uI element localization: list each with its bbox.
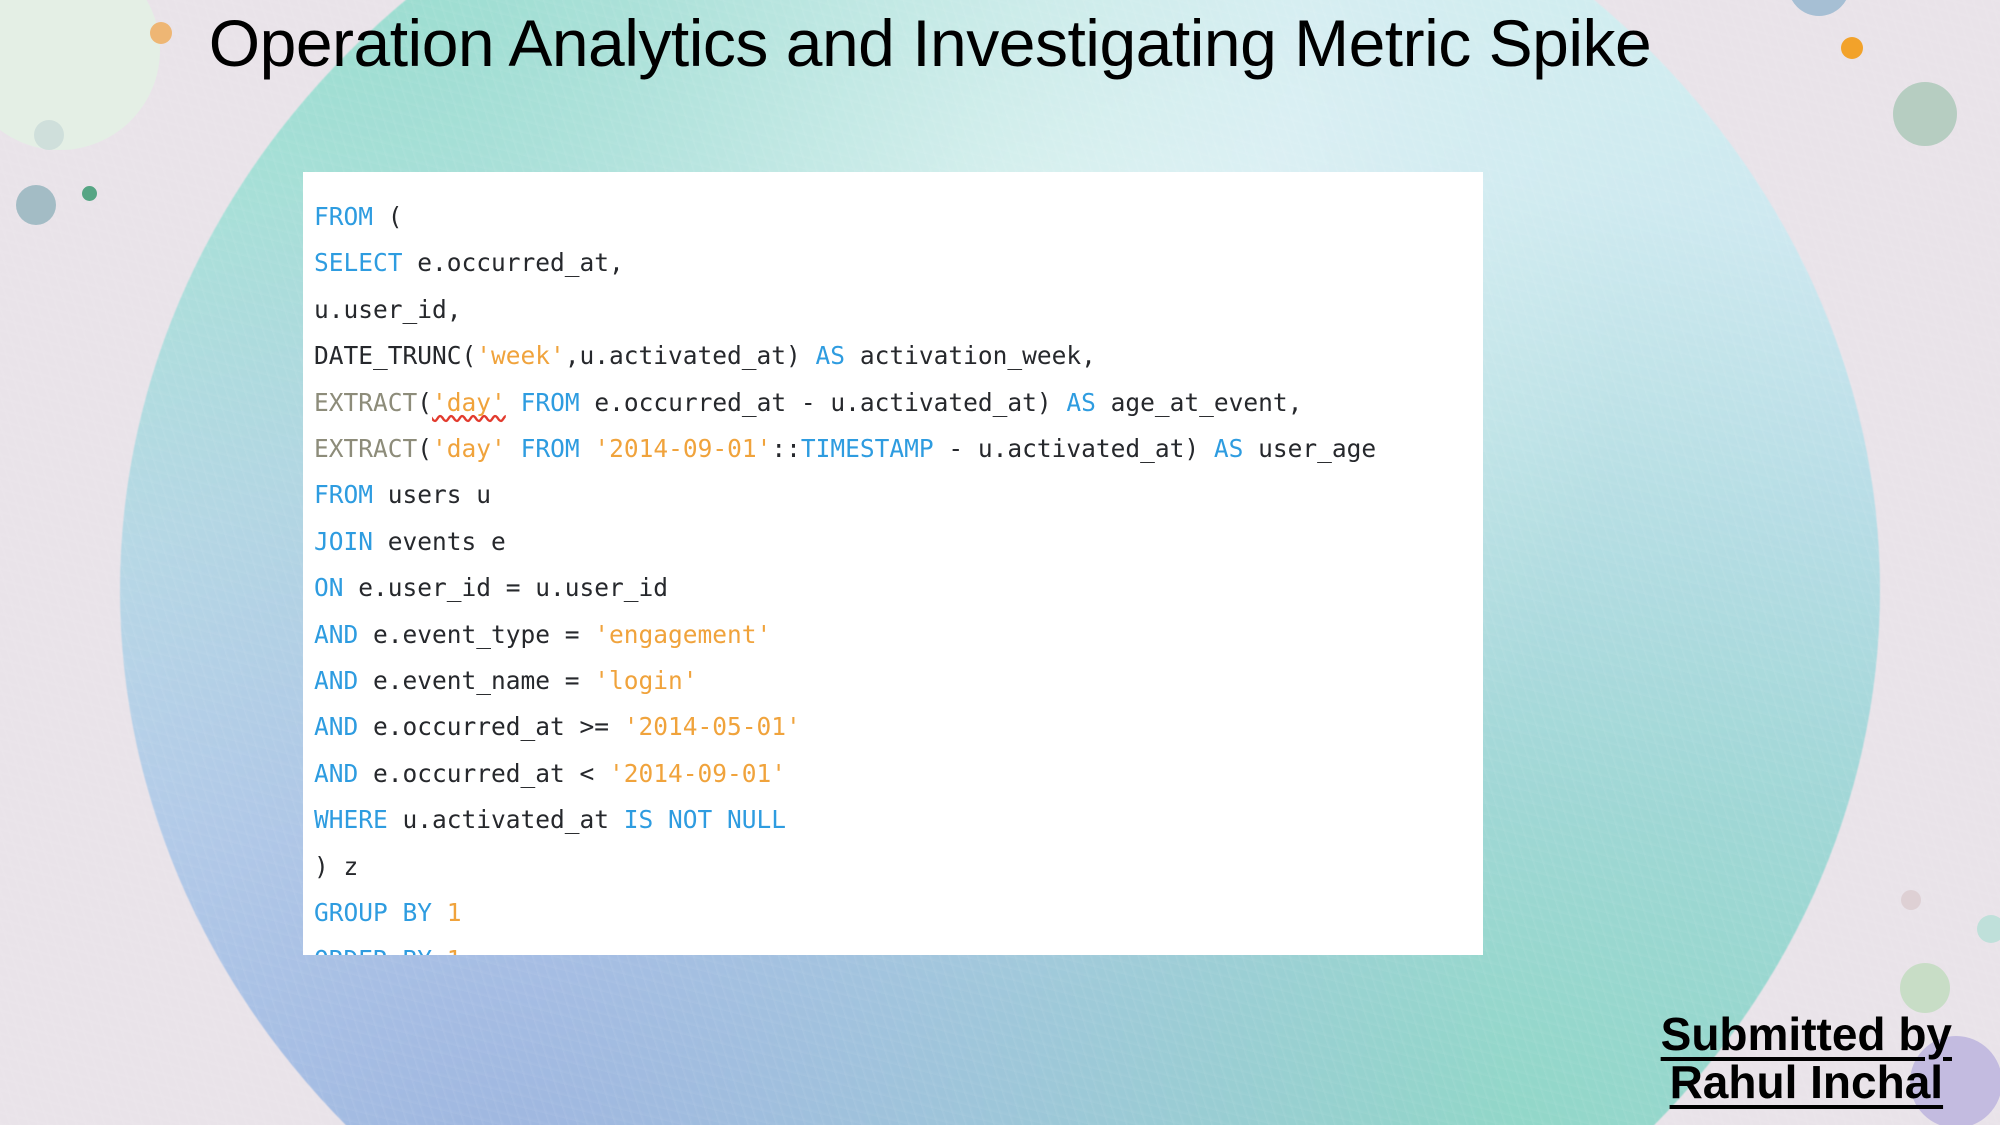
code-token: 'engagement' bbox=[594, 620, 771, 649]
code-token: ON bbox=[314, 573, 344, 602]
code-line: ORDER BY 1 bbox=[308, 937, 1483, 956]
code-token: AND bbox=[314, 759, 358, 788]
code-token bbox=[432, 945, 447, 956]
code-token: :: bbox=[771, 434, 801, 463]
code-line: AND e.event_name = 'login' bbox=[308, 658, 1483, 704]
code-token: ( bbox=[373, 202, 403, 231]
code-token: e.occurred_at - u.activated_at) bbox=[580, 388, 1067, 417]
footer-line-author-name: Rahul Inchal bbox=[1661, 1058, 1952, 1107]
code-token: e.user_id = u.user_id bbox=[344, 573, 669, 602]
code-line: ) z bbox=[308, 844, 1483, 890]
code-line: u.user_id, bbox=[308, 287, 1483, 333]
code-line: AND e.occurred_at < '2014-09-01' bbox=[308, 751, 1483, 797]
code-line: EXTRACT('day' FROM e.occurred_at - u.act… bbox=[308, 380, 1483, 426]
code-token: e.event_type = bbox=[358, 620, 594, 649]
code-token: GROUP BY bbox=[314, 898, 432, 927]
code-token: e.event_name = bbox=[358, 666, 594, 695]
code-token: u.user_id, bbox=[314, 295, 462, 324]
code-token: activation_week, bbox=[845, 341, 1096, 370]
code-token: e.occurred_at, bbox=[403, 248, 624, 277]
pink-dot-bottom-right bbox=[1901, 890, 1921, 910]
code-token: AS bbox=[1066, 388, 1096, 417]
code-line: GROUP BY 1 bbox=[308, 890, 1483, 936]
code-token: e.occurred_at < bbox=[358, 759, 609, 788]
footer-line-submitted-by: Submitted by bbox=[1661, 1010, 1952, 1059]
code-token: users u bbox=[373, 480, 491, 509]
code-token: FROM bbox=[521, 388, 580, 417]
green-dot-left bbox=[82, 186, 97, 201]
code-token: ) z bbox=[314, 852, 358, 881]
code-token: AS bbox=[1214, 434, 1244, 463]
code-line: DATE_TRUNC('week',u.activated_at) AS act… bbox=[308, 333, 1483, 379]
code-token: AND bbox=[314, 620, 358, 649]
code-token: ORDER BY bbox=[314, 945, 432, 956]
code-token bbox=[432, 898, 447, 927]
code-token: age_at_event, bbox=[1096, 388, 1303, 417]
code-token: events e bbox=[373, 527, 506, 556]
code-token: 1 bbox=[447, 945, 462, 956]
code-line: FROM ( bbox=[308, 194, 1483, 240]
code-token: 'day' bbox=[432, 388, 506, 417]
sage-circle-right bbox=[1893, 82, 1957, 146]
code-token: EXTRACT bbox=[314, 434, 417, 463]
light-teal-circle-left bbox=[34, 120, 64, 150]
code-token: 'week' bbox=[476, 341, 565, 370]
presentation-slide: Operation Analytics and Investigating Me… bbox=[0, 0, 2000, 1125]
code-token: JOIN bbox=[314, 527, 373, 556]
teal-dot-bottom-right bbox=[1977, 915, 2000, 943]
code-line: SELECT e.occurred_at, bbox=[308, 240, 1483, 286]
sql-code-block: FROM (SELECT e.occurred_at,u.user_id,DAT… bbox=[303, 172, 1483, 955]
code-token: user_age bbox=[1243, 434, 1376, 463]
code-line: JOIN events e bbox=[308, 519, 1483, 565]
code-token bbox=[506, 434, 521, 463]
page-title: Operation Analytics and Investigating Me… bbox=[0, 8, 1860, 79]
gray-blue-circle-left bbox=[16, 185, 56, 225]
code-token: EXTRACT bbox=[314, 388, 417, 417]
code-token: WHERE bbox=[314, 805, 388, 834]
code-token: DATE_TRUNC( bbox=[314, 341, 476, 370]
code-token: AS bbox=[816, 341, 846, 370]
code-token bbox=[506, 388, 521, 417]
code-token: 'login' bbox=[594, 666, 697, 695]
code-token bbox=[580, 434, 595, 463]
code-token: FROM bbox=[314, 202, 373, 231]
code-token: u.activated_at bbox=[388, 805, 624, 834]
code-token: AND bbox=[314, 712, 358, 741]
code-token: '2014-09-01' bbox=[609, 759, 786, 788]
light-green-circle-bottom-right bbox=[1900, 963, 1950, 1013]
code-token: AND bbox=[314, 666, 358, 695]
footer-credit: Submitted by Rahul Inchal bbox=[1661, 1010, 1952, 1108]
code-line: EXTRACT('day' FROM '2014-09-01'::TIMESTA… bbox=[308, 426, 1483, 472]
code-token: FROM bbox=[521, 434, 580, 463]
code-token: - u.activated_at) bbox=[934, 434, 1214, 463]
code-line: AND e.occurred_at >= '2014-05-01' bbox=[308, 704, 1483, 750]
code-token: SELECT bbox=[314, 248, 403, 277]
code-token: ( bbox=[417, 388, 432, 417]
code-token: TIMESTAMP bbox=[801, 434, 934, 463]
code-token: 1 bbox=[447, 898, 462, 927]
code-token: '2014-05-01' bbox=[624, 712, 801, 741]
code-token: FROM bbox=[314, 480, 373, 509]
code-token: ( bbox=[417, 434, 432, 463]
code-line: AND e.event_type = 'engagement' bbox=[308, 612, 1483, 658]
code-line: FROM users u bbox=[308, 472, 1483, 518]
sql-code-body: FROM (SELECT e.occurred_at,u.user_id,DAT… bbox=[303, 172, 1483, 955]
code-token: ,u.activated_at) bbox=[565, 341, 816, 370]
code-line: ON e.user_id = u.user_id bbox=[308, 565, 1483, 611]
code-token: '2014-09-01' bbox=[594, 434, 771, 463]
code-token: IS NOT NULL bbox=[624, 805, 786, 834]
code-line: WHERE u.activated_at IS NOT NULL bbox=[308, 797, 1483, 843]
code-token: 'day' bbox=[432, 434, 506, 463]
code-token: e.occurred_at >= bbox=[358, 712, 624, 741]
